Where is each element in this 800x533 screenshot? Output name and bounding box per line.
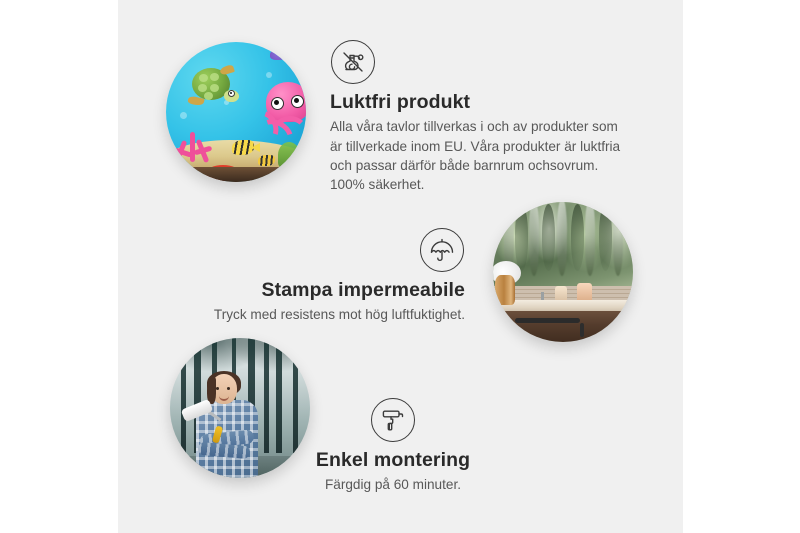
wooden-vanity-cabinet	[501, 311, 633, 342]
feature-body: Färgdig på 60 minuter.	[262, 475, 524, 494]
product-image-bathroom-tropical-wallpaper[interactable]	[493, 202, 633, 342]
feature-title: Luktfri produkt	[330, 91, 630, 114]
ribbed-vase	[495, 275, 515, 305]
bubble	[180, 112, 187, 119]
woman-with-paint-roller	[194, 374, 260, 478]
sea-turtle	[186, 68, 236, 104]
feature-title: Enkel montering	[262, 449, 524, 472]
green-seaweed	[278, 142, 300, 168]
product-image-underwater-kids-scene[interactable]	[166, 42, 306, 182]
feature-title: Stampa impermeabile	[195, 279, 465, 302]
feature-body: Alla våra tavlor tillverkas i och av pro…	[330, 117, 630, 194]
small-striped-fish	[258, 155, 275, 166]
screenshot-stage: Luktfri produkt Alla våra tavlor tillver…	[0, 0, 800, 533]
eye-left	[216, 387, 219, 390]
paint-roller-icon	[371, 398, 415, 442]
feature-block-luktfri-produkt: Luktfri produkt Alla våra tavlor tillver…	[330, 40, 630, 195]
pink-coral	[174, 130, 214, 170]
eye-right	[227, 387, 230, 390]
feature-block-enkel-montering: Enkel montering Färgdig på 60 minuter.	[262, 398, 524, 495]
bubble	[266, 72, 272, 78]
umbrella-icon	[420, 228, 464, 272]
sea-floor-shadow	[166, 167, 306, 182]
no-odour-spray-bottle-icon	[331, 40, 375, 84]
feature-body: Tryck med resistens mot hög luftfuktighe…	[195, 305, 465, 324]
feature-block-stampa-impermeabile: Stampa impermeabile Tryck med resistens …	[195, 228, 465, 325]
yellow-striped-fish	[232, 140, 254, 155]
pink-octopus	[252, 82, 306, 144]
